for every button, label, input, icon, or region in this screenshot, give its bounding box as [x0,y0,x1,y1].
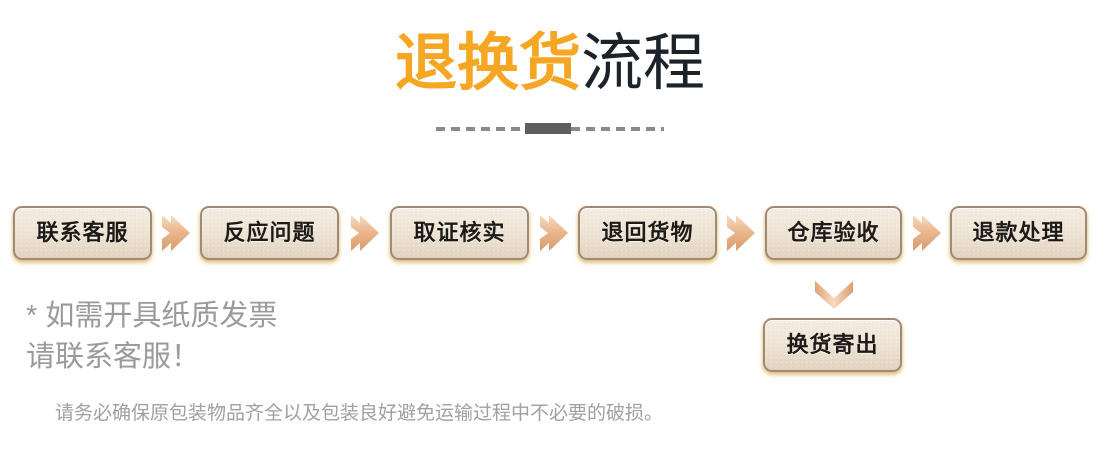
chevron-down-icon [813,280,855,310]
flow-step-2[interactable]: 反应问题 [200,206,339,260]
flow-step-label: 仓库验收 [787,222,879,244]
chevron-right-icon-2 [349,213,379,253]
title-divider [0,122,1100,136]
flow-step-1[interactable]: 联系客服 [13,206,152,260]
flow-step-label: 联系客服 [36,222,128,244]
chevron-right-icon-3 [538,213,568,253]
page-title: 退换货流程 [0,28,1100,100]
flow-step-label: 退回货物 [601,222,693,244]
packaging-footer-note: 请务必确保原包装物品齐全以及包装良好避免运输过程中不必要的破损。 [55,400,663,428]
flow-step-label: 换货寄出 [786,334,878,356]
flow-step-6[interactable]: 退款处理 [950,206,1087,260]
flow-step-3[interactable]: 取证核实 [390,206,529,260]
page-title-rest: 流程 [581,29,705,98]
flow-step-5[interactable]: 仓库验收 [765,206,902,260]
page-title-accent: 退换货 [395,29,581,98]
divider-center-block [525,123,571,134]
paper-invoice-note: * 如需开具纸质发票 请联系客服！ [26,296,277,378]
flow-branch-step-exchange-ship[interactable]: 换货寄出 [763,318,902,372]
returns-process-infographic: 退换货流程 联系客服反应问题取证核实退回货物仓库验收退款处理换货寄出 * 如需开… [0,0,1100,474]
chevron-right-icon-4 [725,213,755,253]
flow-step-label: 退款处理 [972,222,1064,244]
flow-step-4[interactable]: 退回货物 [578,206,717,260]
flow-step-label: 取证核实 [413,222,505,244]
chevron-right-icon-1 [160,213,190,253]
chevron-right-icon-5 [911,213,941,253]
flow-step-label: 反应问题 [223,222,315,244]
